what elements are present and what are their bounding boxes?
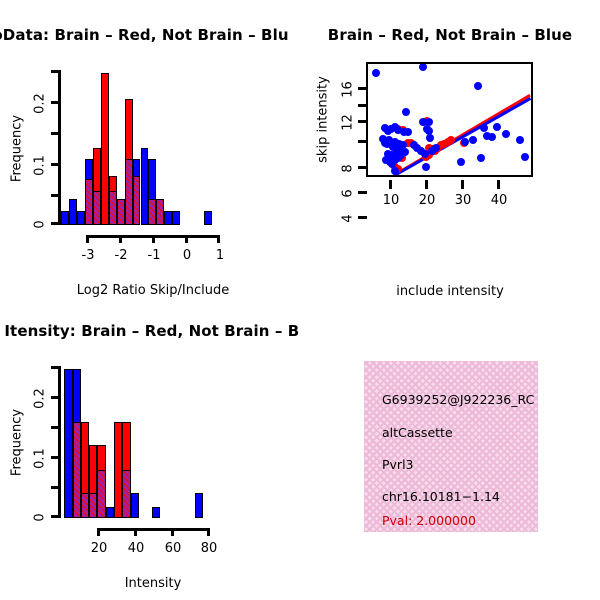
scatter-y-tick-8 <box>358 166 367 169</box>
scatter-point <box>422 163 430 171</box>
scatter-point <box>469 136 477 144</box>
histogram-bar-overlap <box>125 159 133 225</box>
scatter-point <box>404 128 412 136</box>
scatter-point <box>477 154 485 162</box>
scatter-x-ticklabel-30: 30 <box>451 193 475 208</box>
scatter-y-tick-10 <box>358 140 367 143</box>
histogram-bar-overlap <box>148 199 156 225</box>
scatter-point <box>474 82 482 90</box>
histogram-bar <box>101 73 109 225</box>
histogram-bar <box>172 211 180 225</box>
scatter-x-tick-30 <box>461 180 464 189</box>
histogram-bar <box>77 211 85 225</box>
histogram-bar-overlap <box>81 493 89 518</box>
histogram-bar <box>69 199 77 225</box>
scatter-y-tick-14 <box>358 104 367 107</box>
scatter-title: Brain – Red, Not Brain – Blue <box>300 26 600 44</box>
scatter-y-tick-16 <box>358 87 367 90</box>
scatter-point <box>521 153 529 161</box>
histogram-bar-overlap <box>97 470 105 518</box>
histogram-bar-overlap <box>156 199 164 225</box>
histogram-bar-overlap <box>89 493 97 518</box>
scatter-x-ticklabel-40: 40 <box>487 193 511 208</box>
scatter-x-tick-20 <box>425 180 428 189</box>
scatter-point <box>372 69 380 77</box>
intensity-histogram-bars <box>0 300 300 600</box>
scatter-point <box>402 108 410 116</box>
histogram-bar <box>141 148 149 226</box>
scatter-y-axis-title: skip intensity <box>316 60 331 180</box>
ratio-histogram-bars <box>0 0 300 300</box>
scatter-y-tick-6 <box>358 191 367 194</box>
info-coordinates: chr16.10181−1.14 <box>382 489 500 504</box>
scatter-y-tick-12 <box>358 120 367 123</box>
histogram-bar <box>195 493 203 518</box>
panel-ratio-histogram: RatioData: Brain – Red, Not Brain – Blu … <box>0 0 300 300</box>
event-info-box: G6939252@J922236_RC altCassette Pvrl3 ch… <box>364 361 538 532</box>
histogram-bar-overlap <box>73 422 81 518</box>
plot-page: RatioData: Brain – Red, Not Brain – Blu … <box>0 0 600 600</box>
histogram-bar <box>114 422 122 518</box>
panel-intensity-histogram: ne Itensity: Brain – Red, Not Brain – B … <box>0 300 300 600</box>
scatter-point <box>426 134 434 142</box>
histogram-bar <box>61 211 69 225</box>
info-event-type: altCassette <box>382 425 453 440</box>
scatter-point <box>516 136 524 144</box>
info-event-id: G6939252@J922236_RC <box>382 392 534 407</box>
scatter-x-axis-title: include intensity <box>350 284 550 299</box>
histogram-bar <box>64 369 72 518</box>
scatter-x-ticklabel-20: 20 <box>415 193 439 208</box>
scatter-point <box>391 167 399 175</box>
histogram-bar-overlap <box>93 191 101 225</box>
histogram-bar <box>164 211 172 225</box>
scatter-x-tick-10 <box>389 180 392 189</box>
scatter-x-tick-40 <box>497 180 500 189</box>
scatter-x-ticklabel-10: 10 <box>379 193 403 208</box>
info-pvalue: Pval: 2.000000 <box>382 513 476 528</box>
histogram-bar <box>204 211 212 225</box>
scatter-point <box>457 158 465 166</box>
histogram-bar-overlap <box>85 179 93 225</box>
scatter-point <box>391 156 399 164</box>
scatter-point <box>493 123 501 131</box>
scatter-y-ticklabel-12: 12 <box>341 103 356 143</box>
scatter-y-tick-4 <box>358 216 367 219</box>
histogram-bar <box>131 493 139 518</box>
info-gene-name: Pvrl3 <box>382 457 414 472</box>
histogram-bar-overlap <box>109 191 117 225</box>
histogram-bar-overlap <box>133 176 141 225</box>
panel-intensity-scatter: Brain – Red, Not Brain – Blue 16 12 8 6 … <box>300 0 600 300</box>
scatter-point <box>419 64 427 71</box>
histogram-bar <box>106 507 114 518</box>
histogram-bar <box>152 507 160 518</box>
scatter-point <box>461 138 469 146</box>
scatter-point <box>488 133 496 141</box>
scatter-points-area <box>368 64 531 175</box>
scatter-point <box>502 130 510 138</box>
scatter-y-ticklabel-4: 4 <box>341 199 356 239</box>
histogram-bar-overlap <box>122 470 130 518</box>
histogram-bar-overlap <box>117 199 125 225</box>
